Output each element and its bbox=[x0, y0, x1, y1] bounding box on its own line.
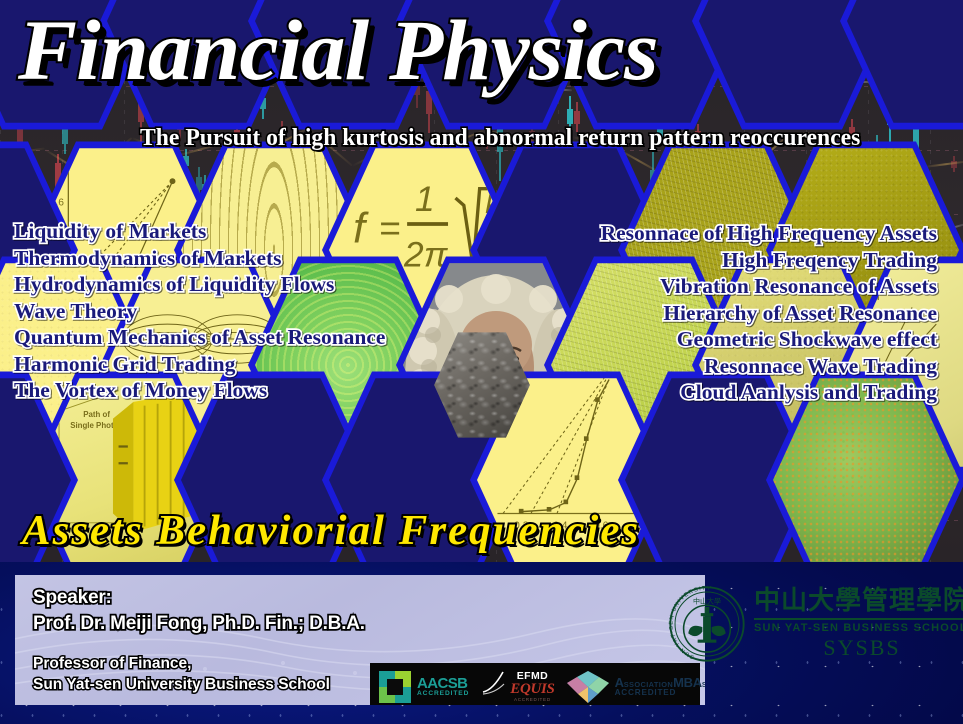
topic-item: Cloud Aanlysis and Trading bbox=[601, 379, 937, 406]
equis-status: ACCREDITED bbox=[510, 698, 554, 703]
svg-text:中山大學: 中山大學 bbox=[693, 597, 721, 606]
university-name-en: SUN YAT-SEN BUSINESS SCHOOL bbox=[754, 622, 963, 634]
topic-item: The Vortex of Money Flows bbox=[14, 377, 385, 404]
aacsb-logo: AACSB ACCREDITED bbox=[370, 663, 469, 705]
topic-item: Harmonic Grid Trading bbox=[14, 351, 385, 378]
speaker-block: Speaker: Prof. Dr. Meiji Fong, Ph.D. Fin… bbox=[33, 585, 365, 637]
footer: Speaker: Prof. Dr. Meiji Fong, Ph.D. Fin… bbox=[0, 562, 963, 724]
sysu-seal-icon: 中山大學 SUN YAT-SEN UNIVERSITY bbox=[668, 585, 746, 663]
topics-right-column: Resonnace of High Frequency Assets High … bbox=[601, 220, 937, 406]
affiliation-line-1: Professor of Finance, bbox=[33, 653, 330, 674]
topic-item: Liquidity of Markets bbox=[14, 218, 385, 245]
topic-item: Resonnace of High Frequency Assets bbox=[601, 220, 937, 247]
slit-caption-line1: Path of bbox=[83, 410, 110, 419]
topic-item: Hierarchy of Asset Resonance bbox=[601, 300, 937, 327]
speaker-panel: Speaker: Prof. Dr. Meiji Fong, Ph.D. Fin… bbox=[15, 575, 705, 705]
topic-item: Vibration Resonance of Assets bbox=[601, 273, 937, 300]
aacsb-mark-icon bbox=[379, 671, 411, 703]
affiliation-block: Professor of Finance, Sun Yat-sen Univer… bbox=[33, 653, 330, 695]
topic-item: Quantum Mechanics of Asset Resonance bbox=[14, 324, 385, 351]
topic-item: Geometric Shockwave effect bbox=[601, 326, 937, 353]
speaker-label: Speaker: bbox=[33, 585, 365, 611]
university-name-block: 中山大學管理學院 SUN YAT-SEN BUSINESS SCHOOL SYS… bbox=[754, 587, 963, 660]
accreditation-strip: AACSB ACCREDITED EFMD EQUIS ACCREDITED bbox=[370, 663, 700, 705]
university-abbreviation: SYSBS bbox=[754, 635, 963, 661]
equis-logo: EFMD EQUIS ACCREDITED bbox=[469, 663, 554, 705]
poster-root: 2252 18347/486 MA5 21499.00 MA10 21696.0… bbox=[0, 0, 963, 724]
efmd-swoosh-icon bbox=[481, 670, 507, 704]
page-title: Financial Physics bbox=[18, 10, 914, 92]
affiliation-line-2: Sun Yat-sen University Business School bbox=[33, 674, 330, 695]
university-name-cn: 中山大學管理學院 bbox=[754, 587, 963, 616]
topic-item: Hydrodynamics of Liquidity Flows bbox=[14, 271, 385, 298]
topic-item: Thermodynamics of Markets bbox=[14, 245, 385, 272]
banner-title: Assets Behaviorial Frequencies bbox=[22, 507, 963, 555]
university-divider bbox=[754, 618, 963, 620]
aacsb-name: AACSB bbox=[417, 676, 469, 691]
aacsb-status: ACCREDITED bbox=[417, 691, 469, 698]
university-logo: 中山大學 SUN YAT-SEN UNIVERSITY 中山大學管理學院 SUN… bbox=[668, 578, 953, 670]
amba-status: ACCREDITED bbox=[615, 689, 705, 697]
equis-name: EQUIS bbox=[510, 682, 554, 698]
page-subtitle: The Pursuit of high kurtosis and abnorma… bbox=[140, 126, 948, 151]
banner-strip: Assets Behaviorial Frequencies bbox=[0, 503, 963, 561]
speaker-name: Prof. Dr. Meiji Fong, Ph.D. Fin.; D.B.A. bbox=[33, 611, 365, 637]
topic-item: Resonnace Wave Trading bbox=[601, 353, 937, 380]
amba-diamond-icon bbox=[565, 669, 611, 705]
formula-numerator: 1 bbox=[415, 180, 435, 219]
topic-item: Wave Theory bbox=[14, 298, 385, 325]
topic-item: High Freqency Trading bbox=[601, 247, 937, 274]
y-tick-08: 0.8 bbox=[50, 156, 65, 167]
topics-left-column: Liquidity of Markets Thermodynamics of M… bbox=[14, 218, 385, 404]
